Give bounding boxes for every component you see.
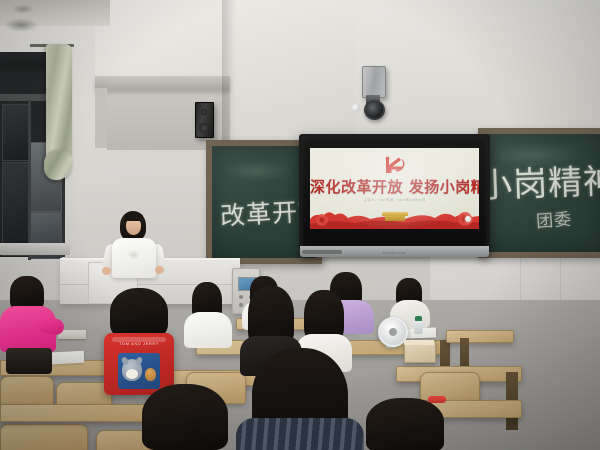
- window-sill: [0, 243, 70, 255]
- water-bottle-icon[interactable]: [414, 320, 423, 334]
- screen-highlight: [465, 216, 471, 222]
- tom-muzzle: [126, 369, 138, 379]
- wall-corner-shadow: [222, 0, 236, 150]
- projection-display[interactable]: 深化改革开放 发扬小岗精神 主讲人：xxx 时间：xxxx年xx月xx日 PRO…: [299, 134, 490, 250]
- soffit-side: [95, 88, 107, 148]
- teacher-hand-right: [155, 266, 164, 274]
- tom-and-jerry-backpack[interactable]: TOM AND JERRY: [104, 333, 174, 395]
- desk-sticker: [428, 396, 446, 403]
- speaker-woofer: [199, 123, 209, 133]
- tiananmen-gate-icon: [382, 212, 408, 221]
- backpack-graphic-panel: [118, 353, 160, 389]
- ceiling-camera-icon: [362, 66, 386, 98]
- tom-cat-icon: [122, 359, 142, 381]
- teacher-fringe: [124, 212, 143, 221]
- teacher-shirt: [112, 238, 156, 278]
- student-torso: [184, 312, 232, 348]
- backpack-text: TOM AND JERRY: [119, 341, 159, 346]
- display-pen-tray: [302, 250, 342, 254]
- camera-indicator: [352, 104, 360, 112]
- gate-base: [385, 216, 405, 221]
- chair-back: [0, 424, 88, 450]
- box-lid: [404, 340, 434, 345]
- fan-hub: [389, 328, 397, 336]
- chalk-smudge: [222, 160, 292, 182]
- student-torso: [236, 418, 364, 450]
- speaker-tweeter: [201, 109, 207, 115]
- blackboard-right-subtext: 团委: [535, 205, 573, 232]
- soffit-ledge: [95, 76, 230, 90]
- window-pane: [2, 104, 30, 161]
- display-base: PROJECTOR: [300, 246, 489, 257]
- classroom-scene: 改革开放 小岗精神 团委 深化改革开放 发扬小岗精神 主讲人：xxx 时间：xx…: [0, 0, 600, 450]
- ceiling-stain-secondary: [12, 4, 34, 14]
- student-hair: [366, 398, 444, 450]
- tom-ear: [121, 356, 130, 366]
- jerry-mouse-icon: [145, 368, 156, 381]
- camera-lens: [364, 100, 385, 120]
- slide-title: 深化改革开放 发扬小岗精神: [310, 176, 479, 197]
- blackboard-right: 小岗精神 团委: [478, 128, 600, 258]
- blackboard-right-text: 小岗精神: [477, 154, 600, 208]
- desk-foreground: [0, 404, 152, 422]
- control-button[interactable]: [239, 303, 243, 307]
- bottle-cap: [415, 316, 422, 321]
- ceiling-stain: [4, 18, 38, 32]
- teacher-hand-left: [102, 267, 111, 275]
- display-brand-label: PROJECTOR: [383, 251, 406, 255]
- desk-row2-right: [446, 330, 514, 343]
- tom-ear: [135, 356, 144, 366]
- slide-subtitle: 主讲人：xxx 时间：xxxx年xx月xx日: [310, 197, 479, 202]
- window-mullion: [28, 100, 31, 260]
- shirt-graphic: [128, 250, 140, 260]
- student-lower: [6, 348, 52, 374]
- cpc-emblem-icon: [382, 155, 408, 177]
- student-hair: [142, 384, 228, 450]
- control-button[interactable]: [239, 295, 243, 299]
- presentation-slide: 深化改革开放 发扬小岗精神 主讲人：xxx 时间：xxxx年xx月xx日: [310, 148, 479, 229]
- window-pane: [2, 162, 30, 256]
- wall-speaker-icon: [195, 102, 214, 138]
